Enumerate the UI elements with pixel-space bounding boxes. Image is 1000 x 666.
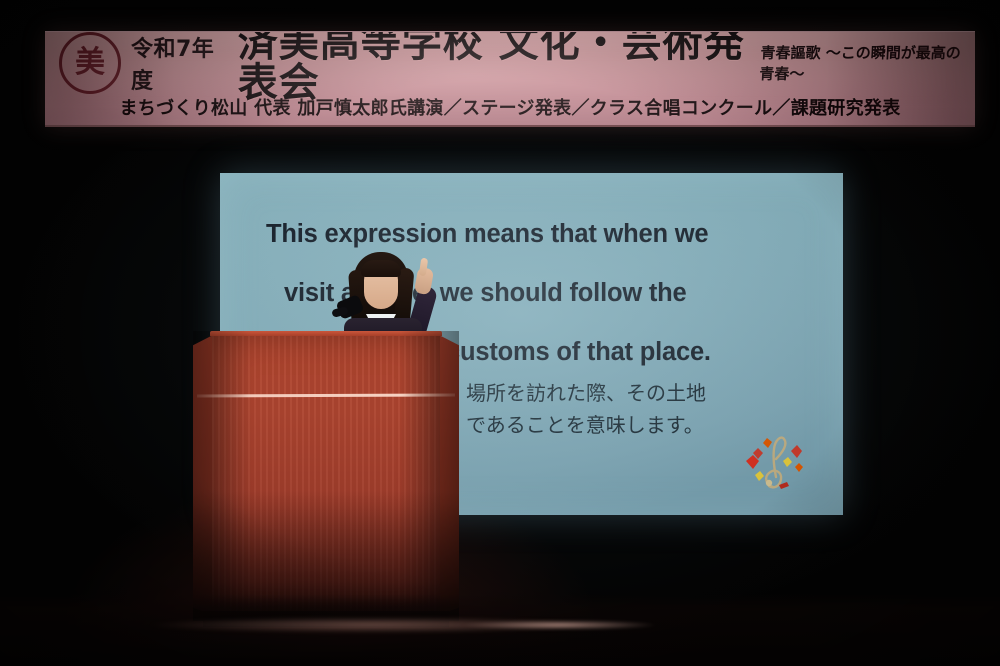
speaker-fringe (361, 260, 401, 277)
banner-era-label: 令和7年度 (131, 31, 224, 95)
treble-clef-autumn-leaves-icon (733, 427, 821, 495)
wooden-podium (193, 331, 459, 621)
event-banner: 美 令和7年度 済美高等学校 文化・芸術発表会 青春謳歌 ～この瞬間が最高の青春… (45, 31, 975, 127)
stage-floor-highlight (420, 618, 700, 632)
school-seal-glyph: 美 (75, 48, 105, 78)
podium-top-edge (210, 331, 442, 336)
slide-japanese-line-1: 場所を訪れた際、その土地 (466, 377, 806, 409)
school-seal-icon: 美 (59, 32, 121, 94)
banner-program-line: まちづくり松山 代表 加戸慎太郎氏講演／ステージ発表／クラス合唱コンクール／課題… (119, 94, 900, 120)
banner-sub-title: 青春謳歌 ～この瞬間が最高の青春～ (759, 42, 975, 84)
banner-program-row: まちづくり松山 代表 加戸慎太郎氏講演／ステージ発表／クラス合唱コンクール／課題… (45, 92, 975, 122)
podium-front-panel (212, 331, 440, 616)
stage-scene: 美 令和7年度 済美高等学校 文化・芸術発表会 青春謳歌 ～この瞬間が最高の青春… (0, 0, 1000, 666)
banner-title-row: 美 令和7年度 済美高等学校 文化・芸術発表会 青春謳歌 ～この瞬間が最高の青春… (45, 34, 975, 92)
podium-right-panel (437, 334, 459, 616)
